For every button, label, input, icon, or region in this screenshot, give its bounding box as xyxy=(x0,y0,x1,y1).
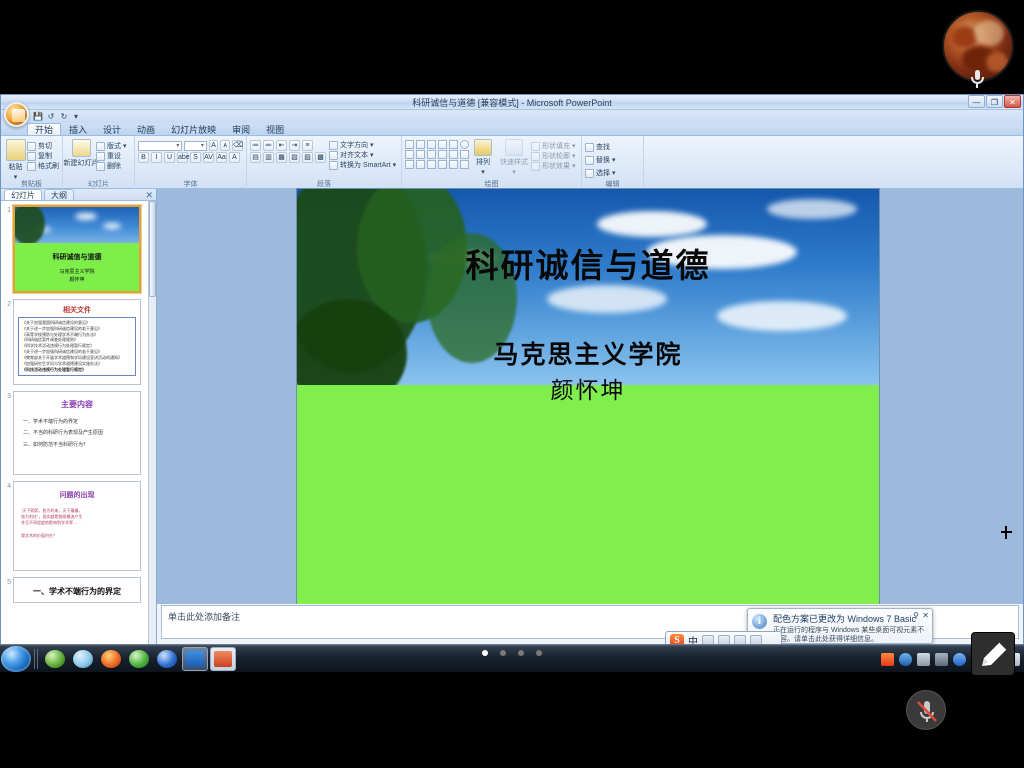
text-direction-icon xyxy=(329,141,338,150)
microphone-icon xyxy=(970,70,984,88)
format-painter-button[interactable]: 格式刷 xyxy=(27,161,59,171)
layout-icon xyxy=(96,142,105,151)
windows-start-orb[interactable] xyxy=(1,646,31,672)
shape-freeform-icon xyxy=(427,160,436,169)
media-player-icon[interactable] xyxy=(126,647,152,671)
reset-icon xyxy=(96,152,105,161)
ribbon-group-editing: 查找 替换▾ 选择▾ 编辑 xyxy=(582,136,644,189)
mute-microphone-button[interactable] xyxy=(906,690,946,730)
thumbnail-slide-1[interactable]: 科研诚信与道德 马克思主义学院 颜怀坤 xyxy=(13,205,141,293)
tab-animations[interactable]: 动画 xyxy=(129,123,163,135)
thumb-title: 一、学术不端行为的界定 xyxy=(18,586,136,597)
scissors-icon xyxy=(27,142,36,151)
line-spacing-button[interactable]: ≡ xyxy=(302,140,313,151)
shape-pentagon-icon xyxy=(460,150,469,159)
slide-body-area xyxy=(297,385,879,607)
shape-outline-button[interactable]: 形状轮廓▾ xyxy=(531,151,576,161)
find-button[interactable]: 查找 xyxy=(585,142,640,152)
ribbon: 粘贴 ▾ 剪切 复制 格式刷 剪贴板 新建幻灯片 xyxy=(1,136,1023,189)
shape-callout-icon xyxy=(416,140,425,149)
info-icon: i xyxy=(752,614,767,629)
character-spacing-button[interactable]: AV xyxy=(203,152,214,163)
slides-pane: 幻灯片 大纲 ✕ 1 xyxy=(1,189,157,657)
screen-share-session: 颜怀坤的屏幕共享 ⤢ ✕ 科研诚信与道德 [兼容模式] - Microsoft … xyxy=(0,0,1024,768)
office-button[interactable] xyxy=(4,102,29,127)
layout-dropdown-icon[interactable]: ▾ xyxy=(123,142,127,150)
bullets-button[interactable]: ≔ xyxy=(250,140,261,151)
quick-styles-button[interactable]: 快速样式 ▾ xyxy=(497,138,531,176)
window-title: 科研诚信与道德 [兼容模式] - Microsoft PowerPoint xyxy=(1,96,1023,109)
shape-arrow2-icon xyxy=(449,150,458,159)
slide-thumbnail-list[interactable]: 1 科研诚信与道德 马克思主义学院 xyxy=(1,201,148,657)
align-text-icon xyxy=(329,151,338,160)
app-blue-icon[interactable] xyxy=(182,647,208,671)
window-controls: — ❐ ✕ xyxy=(968,95,1021,108)
thumb-line: 一、学术不端行为的界定 xyxy=(23,419,134,426)
thumbnail-slide-4[interactable]: 问题的出现 "天下熙熙，皆为利来，天下攘攘， 皆为利往"，现实越是物欲横流产生 … xyxy=(13,481,141,571)
replace-button[interactable]: 替换▾ xyxy=(585,155,640,165)
group-label-font: 字体 xyxy=(135,179,246,189)
close-pane-icon[interactable]: ✕ xyxy=(145,190,153,201)
delete-slide-button[interactable]: 删除 xyxy=(96,161,127,171)
tab-insert[interactable]: 插入 xyxy=(61,123,95,135)
slide-title[interactable]: 科研诚信与道德 xyxy=(297,239,879,287)
security-tray-icon[interactable] xyxy=(917,653,930,666)
paste-button[interactable]: 粘贴 ▾ xyxy=(4,138,27,181)
columns-button[interactable]: ▩ xyxy=(315,152,326,163)
user-tray-icon[interactable] xyxy=(953,653,966,666)
group-label-slides: 幻灯片 xyxy=(63,179,134,189)
group-label-paragraph: 段落 xyxy=(247,179,401,189)
shape-star-icon xyxy=(416,160,425,169)
thumb-line: 三、如何防范不当科研行为？ xyxy=(23,442,134,449)
shape-brace2-icon xyxy=(460,160,469,169)
sogou-ime-tray-icon[interactable] xyxy=(881,653,894,666)
layout-button[interactable]: 版式▾ xyxy=(96,141,127,151)
copy-button[interactable]: 复制 xyxy=(27,151,59,161)
font-size-box[interactable]: ▾ xyxy=(184,141,207,151)
list-item[interactable]: 1 科研诚信与道德 马克思主义学院 xyxy=(1,205,148,293)
increase-font-size-button[interactable]: A xyxy=(209,140,219,151)
font-color-button[interactable]: A xyxy=(229,152,240,163)
windows-taskbar xyxy=(0,644,1024,672)
shape-curve-icon xyxy=(438,150,447,159)
thumb-title: 主要内容 xyxy=(20,396,134,412)
increase-indent-button[interactable]: ⇥ xyxy=(289,140,300,151)
annotation-pen-icon xyxy=(972,633,1016,677)
slide-number: 1 xyxy=(3,205,13,293)
thumb-sky xyxy=(15,207,139,243)
shape-effects-button[interactable]: 形状效果▾ xyxy=(531,161,576,171)
arrange-label: 排列 xyxy=(476,157,490,167)
clear-formatting-button[interactable]: ⌫ xyxy=(232,140,243,151)
slide-number: 3 xyxy=(3,391,13,475)
select-button[interactable]: 选择▾ xyxy=(585,168,640,178)
window-titlebar: 科研诚信与道德 [兼容模式] - Microsoft PowerPoint — … xyxy=(1,95,1023,110)
internet-explorer-icon[interactable] xyxy=(70,647,96,671)
ribbon-tabs: 开始 插入 设计 动画 幻灯片放映 审阅 视图 xyxy=(1,123,1023,136)
text-cursor-icon xyxy=(1001,526,1012,539)
numbering-button[interactable]: ≕ xyxy=(263,140,274,151)
pagination-dot[interactable] xyxy=(500,650,506,656)
thumb-line: 我学术的价值何在？ xyxy=(21,533,133,539)
slides-pane-tabs: 幻灯片 大纲 ✕ xyxy=(1,189,156,201)
change-case-button[interactable]: Aa xyxy=(216,152,227,163)
thumbnail-slide-2[interactable]: 相关文件 《关于加强我国科研诚信建设的意见》 《关于进一步加强科研诚信建设的若干… xyxy=(13,299,141,385)
shape-triangle-icon xyxy=(416,150,425,159)
paste-label: 粘贴 xyxy=(9,162,23,172)
align-center-button[interactable]: ▥ xyxy=(263,152,274,163)
thumbnail-slide-5[interactable]: 一、学术不端行为的界定 xyxy=(13,577,141,603)
distribute-button[interactable]: ▨ xyxy=(302,152,313,163)
ribbon-group-font: ▾ ▾ A ᴀ ⌫ B I U abe S AV Aa A 字体 xyxy=(135,136,247,189)
justify-button[interactable]: ▧ xyxy=(289,152,300,163)
quick-access-toolbar: 💾 ↺ ↻ ▾ xyxy=(1,110,1023,123)
list-item[interactable]: 5 一、学术不端行为的界定 xyxy=(1,577,148,603)
annotation-pen-button[interactable] xyxy=(971,632,1015,676)
tab-view[interactable]: 视图 xyxy=(258,123,292,135)
shape-oval-icon xyxy=(460,140,469,149)
restore-button[interactable]: ❐ xyxy=(986,95,1003,108)
decrease-font-size-button[interactable]: ᴀ xyxy=(220,140,230,151)
powerpoint-window: 科研诚信与道德 [兼容模式] - Microsoft PowerPoint — … xyxy=(0,94,1024,644)
strikethrough-button[interactable]: abe xyxy=(177,152,188,163)
minimize-button[interactable]: — xyxy=(968,95,985,108)
thumb-line: 二、不当的科研行为表现及产生原因 xyxy=(23,430,134,437)
slide-number: 4 xyxy=(3,481,13,571)
arrange-button[interactable]: 排列 ▾ xyxy=(469,138,497,176)
thumbnail-slide-3[interactable]: 主要内容 一、学术不端行为的界定 二、不当的科研行为表现及产生原因 三、如何防范… xyxy=(13,391,141,475)
font-name-box[interactable]: ▾ xyxy=(138,141,182,151)
shape-fill-icon xyxy=(531,142,540,151)
network-tray-icon[interactable] xyxy=(935,653,948,666)
group-label-clipboard: 剪贴板 xyxy=(1,179,62,189)
decrease-indent-button[interactable]: ⇤ xyxy=(276,140,287,151)
pagination-dot[interactable] xyxy=(536,650,542,656)
pane-tab-slides[interactable]: 幻灯片 xyxy=(4,189,42,200)
notification-pin-icon[interactable]: ⚲ xyxy=(913,611,919,620)
thumb-title: 问题的出现 xyxy=(21,487,133,502)
thumb-title: 相关文件 xyxy=(18,302,136,317)
thumb-sub2: 颜怀坤 xyxy=(59,277,94,285)
shape-line-icon xyxy=(427,140,436,149)
thumb-body: 科研诚信与道德 马克思主义学院 颜怀坤 xyxy=(15,243,139,293)
redo-icon[interactable]: ↻ xyxy=(59,112,69,122)
slide-subtitle-presenter[interactable]: 颜怀坤 xyxy=(297,371,879,405)
replace-icon xyxy=(585,156,594,165)
copy-icon xyxy=(27,152,36,161)
undo-icon[interactable]: ↺ xyxy=(46,112,56,122)
list-item[interactable]: 4 问题的出现 "天下熙熙，皆为利来，天下攘攘， 皆为利往"，现实越是物欲横流产… xyxy=(1,481,148,571)
shape-textbox-icon xyxy=(405,140,414,149)
new-slide-button[interactable]: 新建幻灯片 xyxy=(66,138,96,171)
underline-button[interactable]: U xyxy=(164,152,175,163)
text-direction-button[interactable]: 文字方向▾ xyxy=(329,140,396,150)
shapes-gallery[interactable] xyxy=(405,138,469,176)
notification-close-icon[interactable]: ✕ xyxy=(922,611,929,620)
shape-pie-icon xyxy=(405,160,414,169)
cut-button[interactable]: 剪切 xyxy=(27,141,59,151)
pane-tab-outline[interactable]: 大纲 xyxy=(44,189,74,200)
thumb-line: 《教育部关于开展学术道德和学风建设宣讲活动的通知》 xyxy=(22,355,132,361)
firefox-icon[interactable] xyxy=(98,647,124,671)
tab-home[interactable]: 开始 xyxy=(27,123,61,135)
slides-pane-scrollbar[interactable] xyxy=(148,201,156,657)
slide-number: 2 xyxy=(3,299,13,385)
save-icon[interactable]: 💾 xyxy=(33,112,43,122)
search-icon xyxy=(585,143,594,152)
workspace: 幻灯片 大纲 ✕ 1 xyxy=(1,189,1023,657)
align-left-button[interactable]: ▤ xyxy=(250,152,261,163)
taskbar-grip[interactable] xyxy=(34,649,38,669)
shape-square-icon xyxy=(405,150,414,159)
slide-canvas[interactable]: 科研诚信与道德 马克思主义学院 颜怀坤 xyxy=(297,189,879,607)
shape-arrow-icon xyxy=(438,140,447,149)
shape-rect-icon xyxy=(449,140,458,149)
list-item[interactable]: 2 相关文件 《关于加强我国科研诚信建设的意见》 《关于进一步加强科研诚信建设的… xyxy=(1,299,148,385)
tab-design[interactable]: 设计 xyxy=(95,123,129,135)
shape-bracket-icon xyxy=(427,150,436,159)
bold-button[interactable]: B xyxy=(138,152,149,163)
ribbon-group-drawing: 排列 ▾ 快速样式 ▾ 形状填充▾ 形状轮廓▾ 形状效果▾ 绘图 xyxy=(402,136,582,189)
group-label-drawing: 绘图 xyxy=(402,179,581,189)
notification-title: 配色方案已更改为 Windows 7 Basic xyxy=(753,612,927,625)
customize-quick-access-icon[interactable]: ▾ xyxy=(71,112,81,122)
italic-button[interactable]: I xyxy=(151,152,162,163)
ribbon-group-clipboard: 粘贴 ▾ 剪切 复制 格式刷 剪贴板 xyxy=(1,136,63,189)
pagination-dot[interactable] xyxy=(482,650,488,656)
thumb-footer: 《科技活动违规行为处理暂行规定》 xyxy=(22,367,132,373)
scrollbar-thumb[interactable] xyxy=(149,201,156,297)
mute-microphone-icon xyxy=(907,691,947,731)
shape-scribble-icon xyxy=(438,160,447,169)
thumb-line: 并且不同程度地影响到学术界…… xyxy=(21,520,133,526)
powerpoint-icon[interactable] xyxy=(210,647,236,671)
shape-fill-button[interactable]: 形状填充▾ xyxy=(531,141,576,151)
select-icon xyxy=(585,169,594,178)
shadow-button[interactable]: S xyxy=(190,152,201,163)
ribbon-group-paragraph: ≔ ≕ ⇤ ⇥ ≡ ▤ ▥ ▦ ▧ ▨ ▩ xyxy=(247,136,402,189)
new-slide-label: 新建幻灯片 xyxy=(64,158,99,168)
tab-slideshow[interactable]: 幻灯片放映 xyxy=(163,123,224,135)
thumb-title: 科研诚信与道德 xyxy=(53,252,102,262)
pagination-dots[interactable] xyxy=(482,650,542,656)
reset-button[interactable]: 重设 xyxy=(96,151,127,161)
close-button[interactable]: ✕ xyxy=(1004,95,1021,108)
align-right-button[interactable]: ▦ xyxy=(276,152,287,163)
align-text-button[interactable]: 对齐文本▾ xyxy=(329,150,396,160)
slide-editor: 科研诚信与道德 马克思主义学院 颜怀坤 xyxy=(157,189,1023,657)
paintbrush-icon xyxy=(27,162,36,171)
smartart-icon xyxy=(329,161,338,170)
slide-number: 5 xyxy=(3,577,13,603)
internet-explorer-green-icon[interactable] xyxy=(42,647,68,671)
quick-styles-label: 快速样式 xyxy=(500,157,528,167)
thumb-line: 《加强研究生学风与学术道德建设实施办法》 xyxy=(22,361,132,367)
list-item[interactable]: 3 主要内容 一、学术不端行为的界定 二、不当的科研行为表现及产生原因 三、如何… xyxy=(1,391,148,475)
shape-brace-icon xyxy=(449,160,458,169)
help-tray-icon[interactable] xyxy=(899,653,912,666)
slide-subtitle-organization[interactable]: 马克思主义学院 xyxy=(297,335,879,371)
pagination-dot[interactable] xyxy=(518,650,524,656)
tab-review[interactable]: 审阅 xyxy=(224,123,258,135)
shape-outline-icon xyxy=(531,152,540,161)
thumb-sub1: 马克思主义学院 xyxy=(59,269,94,277)
delete-icon xyxy=(96,162,105,171)
shape-effects-icon xyxy=(531,162,540,171)
group-label-editing: 编辑 xyxy=(582,179,643,189)
flash-player-icon[interactable] xyxy=(154,647,180,671)
convert-to-smartart-button[interactable]: 转换为 SmartArt▾ xyxy=(329,160,396,170)
ribbon-group-slides: 新建幻灯片 版式▾ 重设 删除 幻灯片 xyxy=(63,136,135,189)
